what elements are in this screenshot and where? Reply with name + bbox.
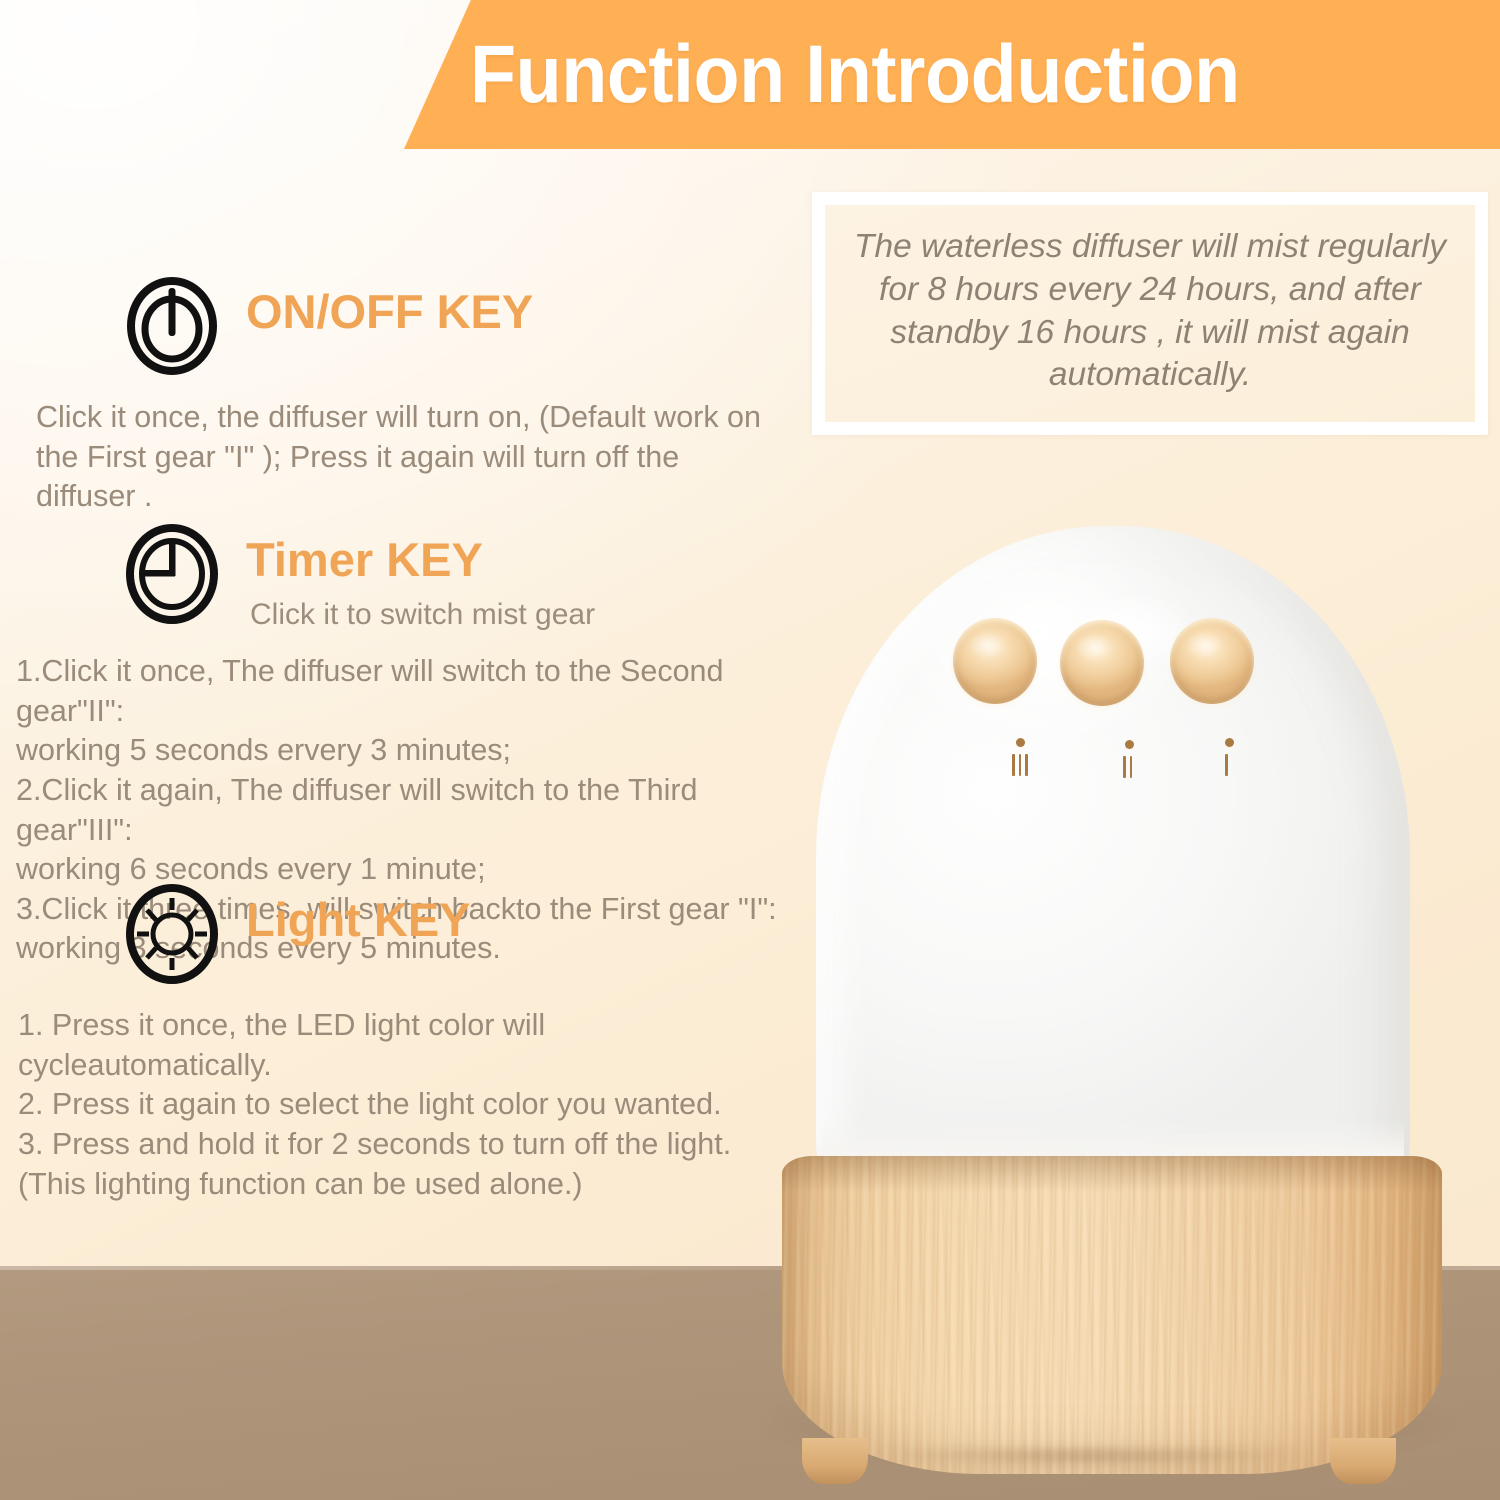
base-foot-right [1330, 1438, 1396, 1484]
feature-body-text: Click it once, the diffuser will turn on… [36, 398, 762, 517]
sun-icon [124, 884, 220, 984]
feature-title: ON/OFF KEY [246, 288, 533, 335]
feature-body-text: 1. Press it once, the LED light color wi… [18, 1006, 778, 1204]
note-callout: The waterless diffuser will mist regular… [812, 192, 1488, 435]
product-timer-button[interactable] [1060, 620, 1144, 706]
base-foot-left [802, 1438, 868, 1484]
feature-subtitle: Click it to switch mist gear [246, 583, 595, 633]
gear-bars [1012, 754, 1028, 776]
gear-dot [1225, 738, 1234, 747]
power-icon [124, 276, 220, 376]
product-light-button[interactable] [953, 618, 1037, 704]
gear-dot [1125, 740, 1134, 749]
feature-light-key: Light KEY 1. Press it once, the LED ligh… [0, 884, 800, 1204]
header-banner: Function Introduction [404, 0, 1500, 149]
product-image-diffuser [718, 520, 1500, 1480]
clock-icon [124, 524, 220, 624]
product-power-button[interactable] [1170, 618, 1254, 704]
feature-heading: Light KEY [0, 884, 800, 984]
gear-dot [1016, 738, 1025, 747]
feature-title: Light KEY [246, 896, 471, 943]
feature-heading-text: ON/OFF KEY [220, 276, 533, 335]
gear-bars [1123, 756, 1132, 778]
page-title: Function Introduction [470, 28, 1240, 122]
base-ground-contact-shadow [808, 1450, 1368, 1480]
wood-grain-texture-secondary [782, 1156, 1442, 1474]
note-callout-inner: The waterless diffuser will mist regular… [825, 205, 1475, 422]
feature-heading-text: Light KEY [220, 884, 471, 943]
note-text: The waterless diffuser will mist regular… [843, 226, 1457, 396]
gear-bars [1225, 754, 1228, 776]
feature-title: Timer KEY [246, 536, 595, 583]
feature-heading: Timer KEY Click it to switch mist gear [0, 524, 810, 633]
infographic-canvas: Function Introduction The waterless diff… [0, 0, 1500, 1500]
feature-heading-text: Timer KEY Click it to switch mist gear [220, 524, 595, 633]
base-top-shadow [782, 1156, 1442, 1192]
diffuser-wood-base [782, 1156, 1442, 1474]
feature-heading: ON/OFF KEY [0, 276, 800, 376]
feature-on-off-key: ON/OFF KEY Click it once, the diffuser w… [0, 276, 800, 517]
